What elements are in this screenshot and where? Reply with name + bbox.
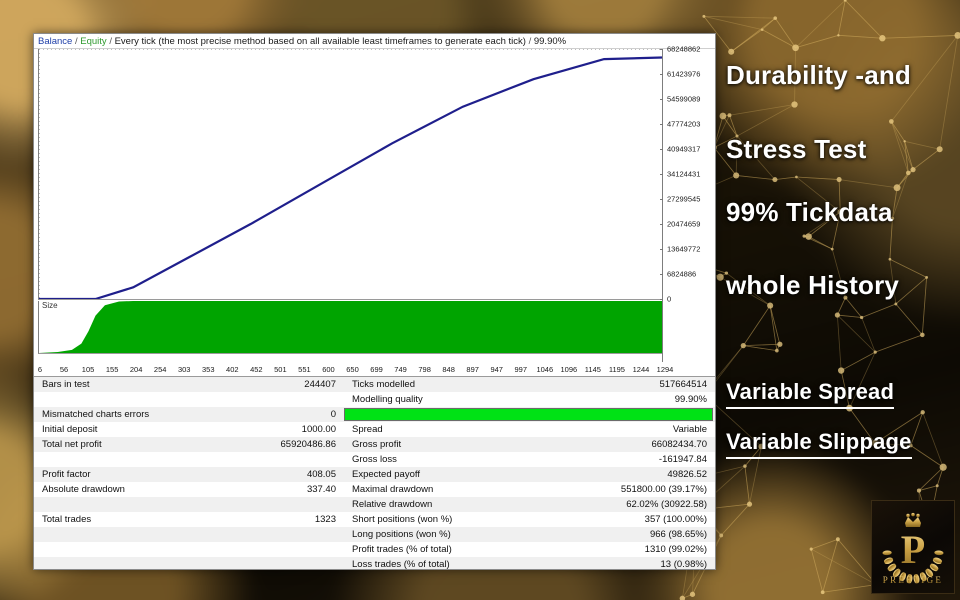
- y-axis-tick-mark: [660, 299, 663, 300]
- row-label-right: Modelling quality: [344, 394, 524, 405]
- lot-size-area: [39, 301, 662, 353]
- row-label-right: Maximal drawdown: [344, 484, 524, 495]
- table-row[interactable]: Mismatched charts errors0: [34, 407, 715, 422]
- promo-line-1: Durability -and: [726, 60, 911, 91]
- size-panel-label: Size: [42, 301, 58, 310]
- table-row[interactable]: Relative drawdown62.02% (30922.58): [34, 497, 715, 512]
- row-label-right: Long positions (won %): [344, 529, 524, 540]
- y-axis-tick-label: 13649772: [667, 245, 700, 254]
- row-value-right: 62.02% (30922.58): [524, 499, 715, 510]
- modelling-quality-bar: [344, 408, 715, 421]
- y-axis-tick-mark: [660, 124, 663, 125]
- row-value-left: 337.40: [234, 484, 344, 495]
- x-axis-tick-label: 600: [322, 365, 335, 374]
- row-value-right: Variable: [524, 424, 715, 435]
- row-value-left: 244407: [234, 379, 344, 390]
- x-axis-tick-label: 699: [370, 365, 383, 374]
- x-axis-tick-label: 452: [250, 365, 263, 374]
- row-value-right: 517664514: [524, 379, 715, 390]
- x-axis-tick-label: 1244: [633, 365, 650, 374]
- row-label-right: Spread: [344, 424, 524, 435]
- x-axis-tick-label: 155: [106, 365, 119, 374]
- y-axis-tick-label: 6824886: [667, 270, 696, 279]
- x-axis-tick-label: 1294: [657, 365, 674, 374]
- x-axis-tick-label: 1046: [536, 365, 553, 374]
- y-axis-tick-label: 68248862: [667, 45, 700, 54]
- y-axis-tick-mark: [660, 149, 663, 150]
- row-value-right: 357 (100.00%): [524, 514, 715, 525]
- y-axis-tick-label: 20474659: [667, 220, 700, 229]
- row-value-right: -161947.84: [524, 454, 715, 465]
- x-axis-tick-label: 897: [466, 365, 479, 374]
- legend-quality-value: 99.90%: [534, 36, 566, 47]
- row-label-right: Gross loss: [344, 454, 524, 465]
- row-label-left: Profit factor: [34, 469, 234, 480]
- x-axis-tick-label: 402: [226, 365, 239, 374]
- balance-equity-plot: [38, 49, 662, 300]
- legend-separator-1: /: [75, 36, 78, 47]
- legend-equity-label[interactable]: Equity: [80, 36, 106, 47]
- x-axis-tick-label: 798: [418, 365, 431, 374]
- row-value-left: 1323: [234, 514, 344, 525]
- promo-line-6: Variable Slippage: [726, 429, 912, 459]
- y-axis-tick-label: 34124431: [667, 170, 700, 179]
- row-value-right: 551800.00 (39.17%): [524, 484, 715, 495]
- table-row[interactable]: Profit trades (% of total)1310 (99.02%): [34, 542, 715, 557]
- x-axis-tick-label: 650: [346, 365, 359, 374]
- laurel-leaf: [934, 550, 943, 555]
- x-axis-tick-label: 1096: [561, 365, 578, 374]
- lot-size-panel: Size: [38, 301, 662, 354]
- y-axis-tick-label: 61423976: [667, 70, 700, 79]
- y-axis-tick-label: 40949317: [667, 145, 700, 154]
- row-value-left: 65920486.86: [234, 439, 344, 450]
- y-axis: 0682488613649772204746592729954534124431…: [662, 49, 715, 362]
- y-axis-tick-mark: [660, 274, 663, 275]
- table-row[interactable]: Total net profit65920486.86Gross profit6…: [34, 437, 715, 452]
- y-axis-tick-mark: [660, 199, 663, 200]
- x-axis-tick-label: 303: [178, 365, 191, 374]
- y-axis-tick-mark: [660, 49, 663, 50]
- x-axis-tick-label: 254: [154, 365, 167, 374]
- y-axis-tick-label: 0: [667, 295, 671, 304]
- table-row[interactable]: Gross loss-161947.84: [34, 452, 715, 467]
- row-value-right: 66082434.70: [524, 439, 715, 450]
- legend-separator-2: /: [109, 36, 112, 47]
- logo-monogram: P: [901, 527, 925, 572]
- x-axis-tick-label: 947: [490, 365, 503, 374]
- promo-line-2: Stress Test: [726, 134, 866, 165]
- x-axis-tick-label: 848: [442, 365, 455, 374]
- row-label-right: Gross profit: [344, 439, 524, 450]
- x-axis-tick-label: 1195: [609, 365, 625, 374]
- y-axis-tick-mark: [660, 224, 663, 225]
- row-value-right: 49826.52: [524, 469, 715, 480]
- balance-curve: [39, 49, 662, 299]
- promo-line-5: Variable Spread: [726, 379, 894, 409]
- promo-line-4: whole History: [726, 270, 899, 301]
- table-row[interactable]: Initial deposit1000.00SpreadVariable: [34, 422, 715, 437]
- x-axis-tick-label: 6: [38, 365, 42, 374]
- lot-size-area-shape: [39, 301, 662, 353]
- row-value-right: 966 (98.65%): [524, 529, 715, 540]
- table-row[interactable]: Loss trades (% of total)13 (0.98%): [34, 557, 715, 569]
- row-label-left: Bars in test: [34, 379, 234, 390]
- legend-method-text: Every tick (the most precise method base…: [115, 36, 526, 47]
- row-label-right: Short positions (won %): [344, 514, 524, 525]
- row-label-left: Total trades: [34, 514, 234, 525]
- prestige-logo-mark: P PRESTIGE: [872, 501, 954, 593]
- table-row[interactable]: Long positions (won %)966 (98.65%): [34, 527, 715, 542]
- legend-separator-3: /: [529, 36, 532, 47]
- logo-wordmark: PRESTIGE: [883, 575, 943, 585]
- row-label-right: Relative drawdown: [344, 499, 524, 510]
- y-axis-tick-label: 47774203: [667, 120, 700, 129]
- x-axis-tick-label: 353: [202, 365, 215, 374]
- x-axis-tick-label: 749: [394, 365, 407, 374]
- row-label-right: Profit trades (% of total): [344, 544, 524, 555]
- row-label-right: Expected payoff: [344, 469, 524, 480]
- table-row[interactable]: Absolute drawdown337.40Maximal drawdown5…: [34, 482, 715, 497]
- table-row[interactable]: Total trades1323Short positions (won %)3…: [34, 512, 715, 527]
- x-axis-tick-label: 105: [82, 365, 95, 374]
- x-axis-tick-label: 204: [130, 365, 143, 374]
- plot-wrapper: Size: [34, 49, 662, 362]
- equity-graph: Size 06824886136497722047465927299545341…: [34, 49, 715, 362]
- y-axis-tick-mark: [660, 74, 663, 75]
- y-axis-tick-label: 27299545: [667, 195, 700, 204]
- quality-bar-fill: [344, 408, 713, 421]
- row-value-right: 13 (0.98%): [524, 559, 715, 569]
- row-value-left: 1000.00: [234, 424, 344, 435]
- y-axis-tick-mark: [660, 174, 663, 175]
- prestige-logo: P PRESTIGE: [871, 500, 955, 594]
- row-value-right: 1310 (99.02%): [524, 544, 715, 555]
- table-row[interactable]: Bars in test244407Ticks modelled51766451…: [34, 377, 715, 392]
- x-axis-tick-label: 56: [60, 365, 68, 374]
- x-axis-tick-label: 501: [274, 365, 287, 374]
- chart-legend: Balance / Equity / Every tick (the most …: [34, 34, 715, 49]
- table-row[interactable]: Modelling quality99.90%: [34, 392, 715, 407]
- row-label-left: Mismatched charts errors: [34, 409, 234, 420]
- balance-line: [39, 58, 662, 300]
- legend-balance-label[interactable]: Balance: [38, 36, 72, 47]
- y-axis-tick-mark: [660, 99, 663, 100]
- row-value-left: 0: [234, 409, 344, 420]
- y-axis-tick-mark: [660, 249, 663, 250]
- row-label-left: Initial deposit: [34, 424, 234, 435]
- report-table: Bars in test244407Ticks modelled51766451…: [34, 377, 715, 569]
- x-axis-tick-label: 1145: [585, 365, 601, 374]
- promo-line-3: 99% Tickdata: [726, 197, 893, 228]
- row-label-right: Loss trades (% of total): [344, 559, 524, 569]
- row-value-right: 99.90%: [524, 394, 715, 405]
- table-row[interactable]: Profit factor408.05Expected payoff49826.…: [34, 467, 715, 482]
- row-label-right: Ticks modelled: [344, 379, 524, 390]
- y-axis-tick-label: 54599089: [667, 95, 700, 104]
- crown-icon: [905, 513, 921, 527]
- strategy-tester-window: Balance / Equity / Every tick (the most …: [33, 33, 716, 570]
- row-value-left: 408.05: [234, 469, 344, 480]
- x-axis-tick-label: 997: [515, 365, 528, 374]
- x-axis: 6561051552042543033534024525015516006506…: [34, 362, 715, 377]
- x-axis-tick-label: 551: [298, 365, 311, 374]
- row-label-left: Total net profit: [34, 439, 234, 450]
- laurel-leaf: [882, 550, 891, 555]
- row-label-left: Absolute drawdown: [34, 484, 234, 495]
